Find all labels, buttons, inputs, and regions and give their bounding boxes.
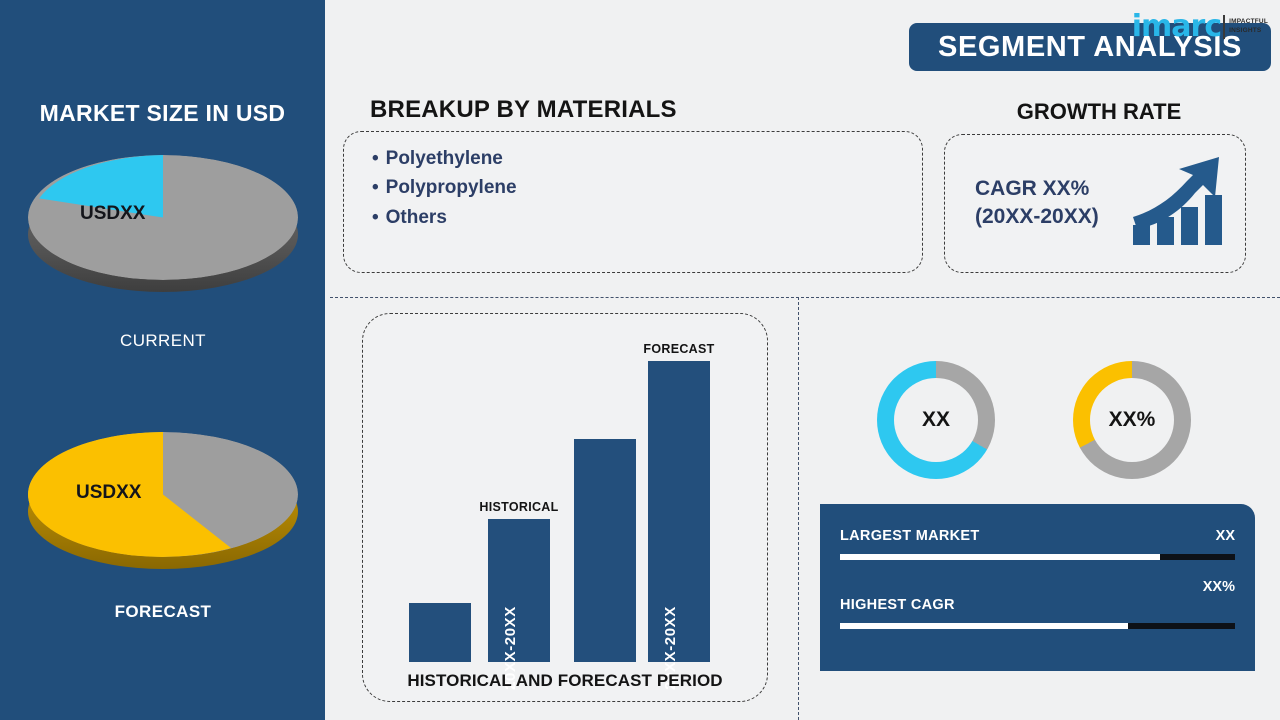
- bullet-icon: •: [372, 177, 379, 198]
- bar-chart-caption: HISTORICAL AND FORECAST PERIOD: [363, 671, 767, 691]
- forecast-pie-caption: FORECAST: [22, 602, 304, 622]
- market-size-title: MARKET SIZE IN USD: [0, 100, 325, 127]
- highest-cagr-donut-label: XX%: [1090, 378, 1174, 462]
- bar-1: [409, 603, 471, 662]
- metric-largest-market: LARGEST MARKET XX: [840, 528, 1235, 560]
- materials-item-label: Others: [386, 207, 447, 228]
- materials-heading: BREAKUP BY MATERIALS: [370, 96, 677, 124]
- horizontal-divider: [330, 297, 1280, 298]
- metric-progress-fill: [840, 623, 1128, 629]
- logo-tagline-line1: IMPACTFUL: [1229, 18, 1268, 27]
- current-pie-slice-label: USDXX: [80, 203, 145, 225]
- materials-list: •Polyethylene •Polypropylene •Others: [344, 132, 922, 232]
- growth-arrow-chart-icon: [1131, 155, 1227, 252]
- materials-item-label: Polypropylene: [386, 177, 517, 198]
- logo-tagline-line2: INSIGHTS: [1229, 27, 1268, 36]
- metric-value: XX: [1216, 528, 1235, 544]
- bar-chart-plot: HISTORICAL 20XX-20XX FORECAST 20XX-20XX: [363, 314, 767, 701]
- metric-progress-track: [840, 554, 1235, 560]
- logo-divider: [1223, 15, 1225, 39]
- current-pie-caption: CURRENT: [22, 331, 304, 351]
- metric-label: LARGEST MARKET: [840, 528, 980, 544]
- metric-label: HIGHEST CAGR: [840, 597, 955, 613]
- bar-2: HISTORICAL 20XX-20XX: [488, 519, 550, 662]
- forecast-pie-chart: USDXX FORECAST: [22, 432, 304, 622]
- highest-cagr-donut: XX%: [1073, 361, 1191, 479]
- list-item: •Polyethylene: [372, 144, 922, 173]
- forecast-annotation: FORECAST: [643, 342, 714, 356]
- market-size-panel: MARKET SIZE IN USD USDXX CURRENT: [0, 0, 325, 720]
- list-item: •Others: [372, 203, 922, 232]
- logo-wordmark: imarc: [1132, 12, 1221, 42]
- segment-analysis-infographic: MARKET SIZE IN USD USDXX CURRENT: [0, 0, 1280, 720]
- bullet-icon: •: [372, 207, 379, 228]
- historical-annotation: HISTORICAL: [479, 500, 558, 514]
- largest-market-donut-label: XX: [894, 378, 978, 462]
- bar-3: [574, 439, 636, 662]
- current-pie-surface: [28, 155, 298, 280]
- header: SEGMENT ANALYSIS imarc IMPACTFUL INSIGHT…: [325, 0, 1280, 88]
- metric-head: HIGHEST CAGR XX%: [840, 597, 1235, 617]
- metric-progress-track: [840, 623, 1235, 629]
- forecast-pie-svg: [28, 432, 298, 557]
- list-item: •Polypropylene: [372, 173, 922, 202]
- metric-value: XX%: [1203, 579, 1235, 595]
- materials-box: •Polyethylene •Polypropylene •Others: [343, 131, 923, 273]
- cagr-text: CAGR XX% (20XX-20XX): [975, 175, 1099, 232]
- imarc-logo: imarc IMPACTFUL INSIGHTS: [1132, 12, 1268, 42]
- logo-tagline: IMPACTFUL INSIGHTS: [1229, 18, 1268, 36]
- cagr-line-1: CAGR XX%: [975, 175, 1099, 203]
- forecast-pie-surface: [28, 432, 298, 557]
- vertical-divider: [798, 297, 799, 720]
- current-pie-svg: [28, 155, 298, 280]
- materials-item-label: Polyethylene: [386, 148, 503, 169]
- metric-highest-cagr: HIGHEST CAGR XX%: [840, 597, 1235, 629]
- current-pie-chart: USDXX CURRENT: [22, 155, 304, 351]
- growth-rate-heading: GROWTH RATE: [944, 99, 1254, 125]
- largest-market-donut: XX: [877, 361, 995, 479]
- metric-head: LARGEST MARKET XX: [840, 528, 1235, 548]
- bullet-icon: •: [372, 148, 379, 169]
- growth-rate-box: CAGR XX% (20XX-20XX): [944, 134, 1246, 273]
- cagr-line-2: (20XX-20XX): [975, 203, 1099, 231]
- metric-progress-fill: [840, 554, 1160, 560]
- bar-4: FORECAST 20XX-20XX: [648, 361, 710, 662]
- historical-forecast-bar-chart: HISTORICAL 20XX-20XX FORECAST 20XX-20XX …: [362, 313, 768, 702]
- forecast-pie-slice-label: USDXX: [76, 482, 141, 504]
- key-metrics-panel: LARGEST MARKET XX HIGHEST CAGR XX%: [820, 504, 1255, 671]
- forecast-pie-stage: USDXX: [28, 432, 298, 582]
- current-pie-stage: USDXX: [28, 155, 298, 305]
